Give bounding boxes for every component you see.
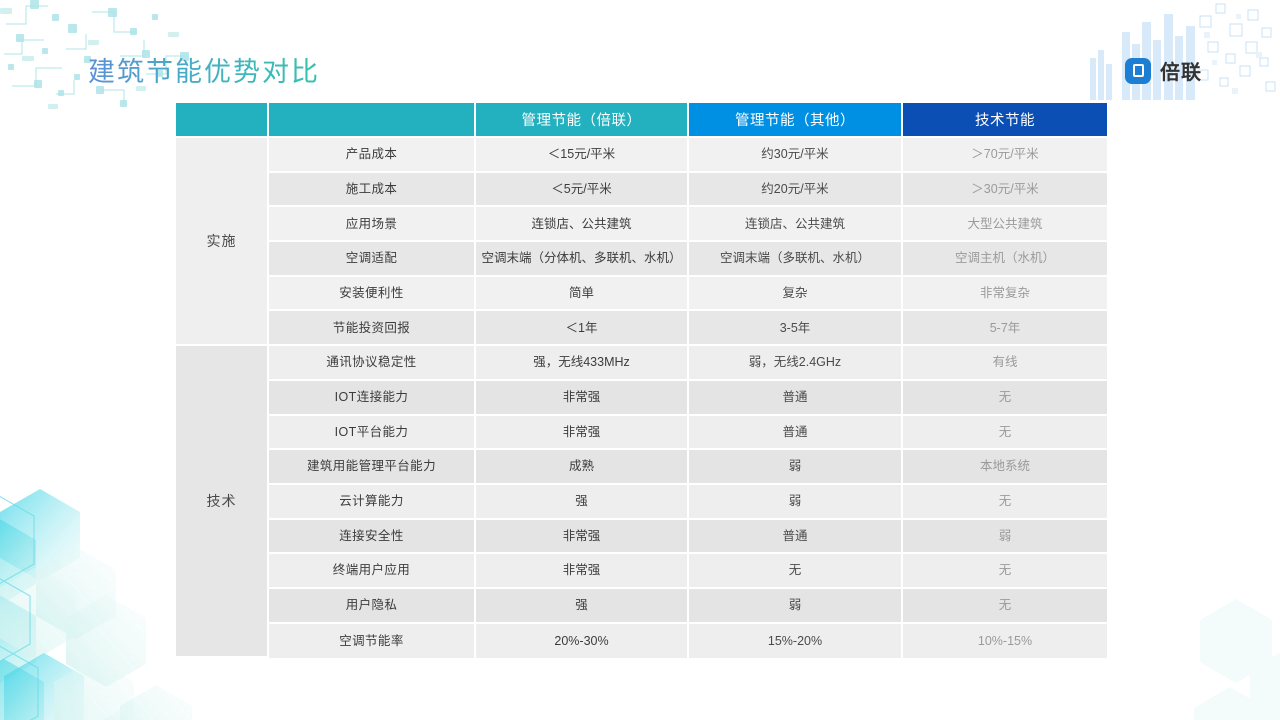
row-value-col-a: ＜1年 (476, 311, 689, 346)
row-item-label: 连接安全性 (269, 520, 476, 555)
row-value-col-c: 无 (903, 416, 1107, 451)
row-value-col-b: 普通 (689, 381, 903, 416)
row-value-col-a: 强 (476, 589, 689, 624)
row-item-label: 用户隐私 (269, 589, 476, 624)
row-value-col-a: 20%-30% (476, 624, 689, 659)
row-item-label: 节能投资回报 (269, 311, 476, 346)
row-value-col-c: ＞30元/平米 (903, 173, 1107, 208)
comparison-table: 管理节能（倍联） 管理节能（其他） 技术节能 实施产品成本＜15元/平米约30元… (176, 103, 1107, 658)
row-value-col-c: 弱 (903, 520, 1107, 555)
row-value-col-a: 强，无线433MHz (476, 346, 689, 381)
row-value-col-a: 连锁店、公共建筑 (476, 207, 689, 242)
header-col-b: 管理节能（其他） (689, 103, 903, 138)
page-title: 建筑节能优势对比 (88, 50, 320, 89)
row-value-col-c: 本地系统 (903, 450, 1107, 485)
row-item-label: 产品成本 (269, 138, 476, 173)
section-label-implementation: 实施 (176, 138, 269, 346)
row-value-col-a: 简单 (476, 277, 689, 312)
header-section-blank (176, 103, 269, 138)
row-value-col-b: 15%-20% (689, 624, 903, 659)
row-value-col-b: 约30元/平米 (689, 138, 903, 173)
row-item-label: 终端用户应用 (269, 554, 476, 589)
table-row: 用户隐私强弱无 (176, 589, 1107, 624)
table-row: 节能投资回报＜1年3-5年5-7年 (176, 311, 1107, 346)
row-value-col-b: 普通 (689, 416, 903, 451)
city-skyline-decoration-icon (1080, 0, 1280, 101)
table-row: IOT平台能力非常强普通无 (176, 416, 1107, 451)
row-value-col-b: 3-5年 (689, 311, 903, 346)
table-row: 安装便利性简单复杂非常复杂 (176, 277, 1107, 312)
row-value-col-a: 非常强 (476, 520, 689, 555)
slide-root: 建筑节能优势对比 倍联 管理节能（倍联） 管理节能（其他） 技术节能 实施产品成… (0, 0, 1280, 720)
row-value-col-b: 复杂 (689, 277, 903, 312)
row-value-col-b: 弱 (689, 589, 903, 624)
row-value-col-c: 有线 (903, 346, 1107, 381)
row-value-col-a: ＜15元/平米 (476, 138, 689, 173)
row-item-label: 空调适配 (269, 242, 476, 277)
table-row: 技术通讯协议稳定性强，无线433MHz弱，无线2.4GHz有线 (176, 346, 1107, 381)
table-body: 实施产品成本＜15元/平米约30元/平米＞70元/平米施工成本＜5元/平米约20… (176, 138, 1107, 658)
row-value-col-c: 无 (903, 381, 1107, 416)
table-row: 建筑用能管理平台能力成熟弱本地系统 (176, 450, 1107, 485)
brand-name: 倍联 (1160, 56, 1202, 85)
row-item-label: 空调节能率 (269, 624, 476, 659)
row-value-col-a: 成熟 (476, 450, 689, 485)
table-row: IOT连接能力非常强普通无 (176, 381, 1107, 416)
table-row: 空调节能率20%-30%15%-20%10%-15% (176, 624, 1107, 659)
row-item-label: IOT平台能力 (269, 416, 476, 451)
section-label-technology: 技术 (176, 346, 269, 658)
table-row: 施工成本＜5元/平米约20元/平米＞30元/平米 (176, 173, 1107, 208)
row-item-label: 通讯协议稳定性 (269, 346, 476, 381)
rounded-square-logo-icon (1125, 58, 1151, 84)
table-row: 连接安全性非常强普通弱 (176, 520, 1107, 555)
row-value-col-c: 非常复杂 (903, 277, 1107, 312)
table-row: 应用场景连锁店、公共建筑连锁店、公共建筑大型公共建筑 (176, 207, 1107, 242)
row-value-col-a: ＜5元/平米 (476, 173, 689, 208)
table-header: 管理节能（倍联） 管理节能（其他） 技术节能 (176, 103, 1107, 138)
row-value-col-c: 10%-15% (903, 624, 1107, 659)
row-value-col-a: 非常强 (476, 554, 689, 589)
row-value-col-b: 无 (689, 554, 903, 589)
row-value-col-a: 非常强 (476, 416, 689, 451)
row-value-col-c: 无 (903, 485, 1107, 520)
row-value-col-b: 弱，无线2.4GHz (689, 346, 903, 381)
row-value-col-b: 约20元/平米 (689, 173, 903, 208)
row-value-col-b: 弱 (689, 485, 903, 520)
row-item-label: 安装便利性 (269, 277, 476, 312)
row-value-col-b: 普通 (689, 520, 903, 555)
row-value-col-a: 强 (476, 485, 689, 520)
row-value-col-a: 空调末端（分体机、多联机、水机） (476, 242, 689, 277)
table-row: 实施产品成本＜15元/平米约30元/平米＞70元/平米 (176, 138, 1107, 173)
header-item-blank (269, 103, 476, 138)
row-item-label: 应用场景 (269, 207, 476, 242)
row-item-label: IOT连接能力 (269, 381, 476, 416)
row-value-col-a: 非常强 (476, 381, 689, 416)
row-value-col-c: 大型公共建筑 (903, 207, 1107, 242)
row-value-col-c: 空调主机（水机） (903, 242, 1107, 277)
table-row: 空调适配空调末端（分体机、多联机、水机）空调末端（多联机、水机）空调主机（水机） (176, 242, 1107, 277)
row-item-label: 建筑用能管理平台能力 (269, 450, 476, 485)
row-item-label: 施工成本 (269, 173, 476, 208)
row-value-col-c: 5-7年 (903, 311, 1107, 346)
hexagon-pattern-right-decoration-icon (1140, 580, 1280, 720)
row-value-col-c: ＞70元/平米 (903, 138, 1107, 173)
row-item-label: 云计算能力 (269, 485, 476, 520)
table-row: 终端用户应用非常强无无 (176, 554, 1107, 589)
header-col-a: 管理节能（倍联） (476, 103, 689, 138)
header-col-c: 技术节能 (903, 103, 1107, 138)
row-value-col-c: 无 (903, 589, 1107, 624)
table-header-row: 管理节能（倍联） 管理节能（其他） 技术节能 (176, 103, 1107, 138)
row-value-col-b: 空调末端（多联机、水机） (689, 242, 903, 277)
row-value-col-c: 无 (903, 554, 1107, 589)
row-value-col-b: 连锁店、公共建筑 (689, 207, 903, 242)
brand-logo: 倍联 (1125, 56, 1202, 85)
table-row: 云计算能力强弱无 (176, 485, 1107, 520)
row-value-col-b: 弱 (689, 450, 903, 485)
